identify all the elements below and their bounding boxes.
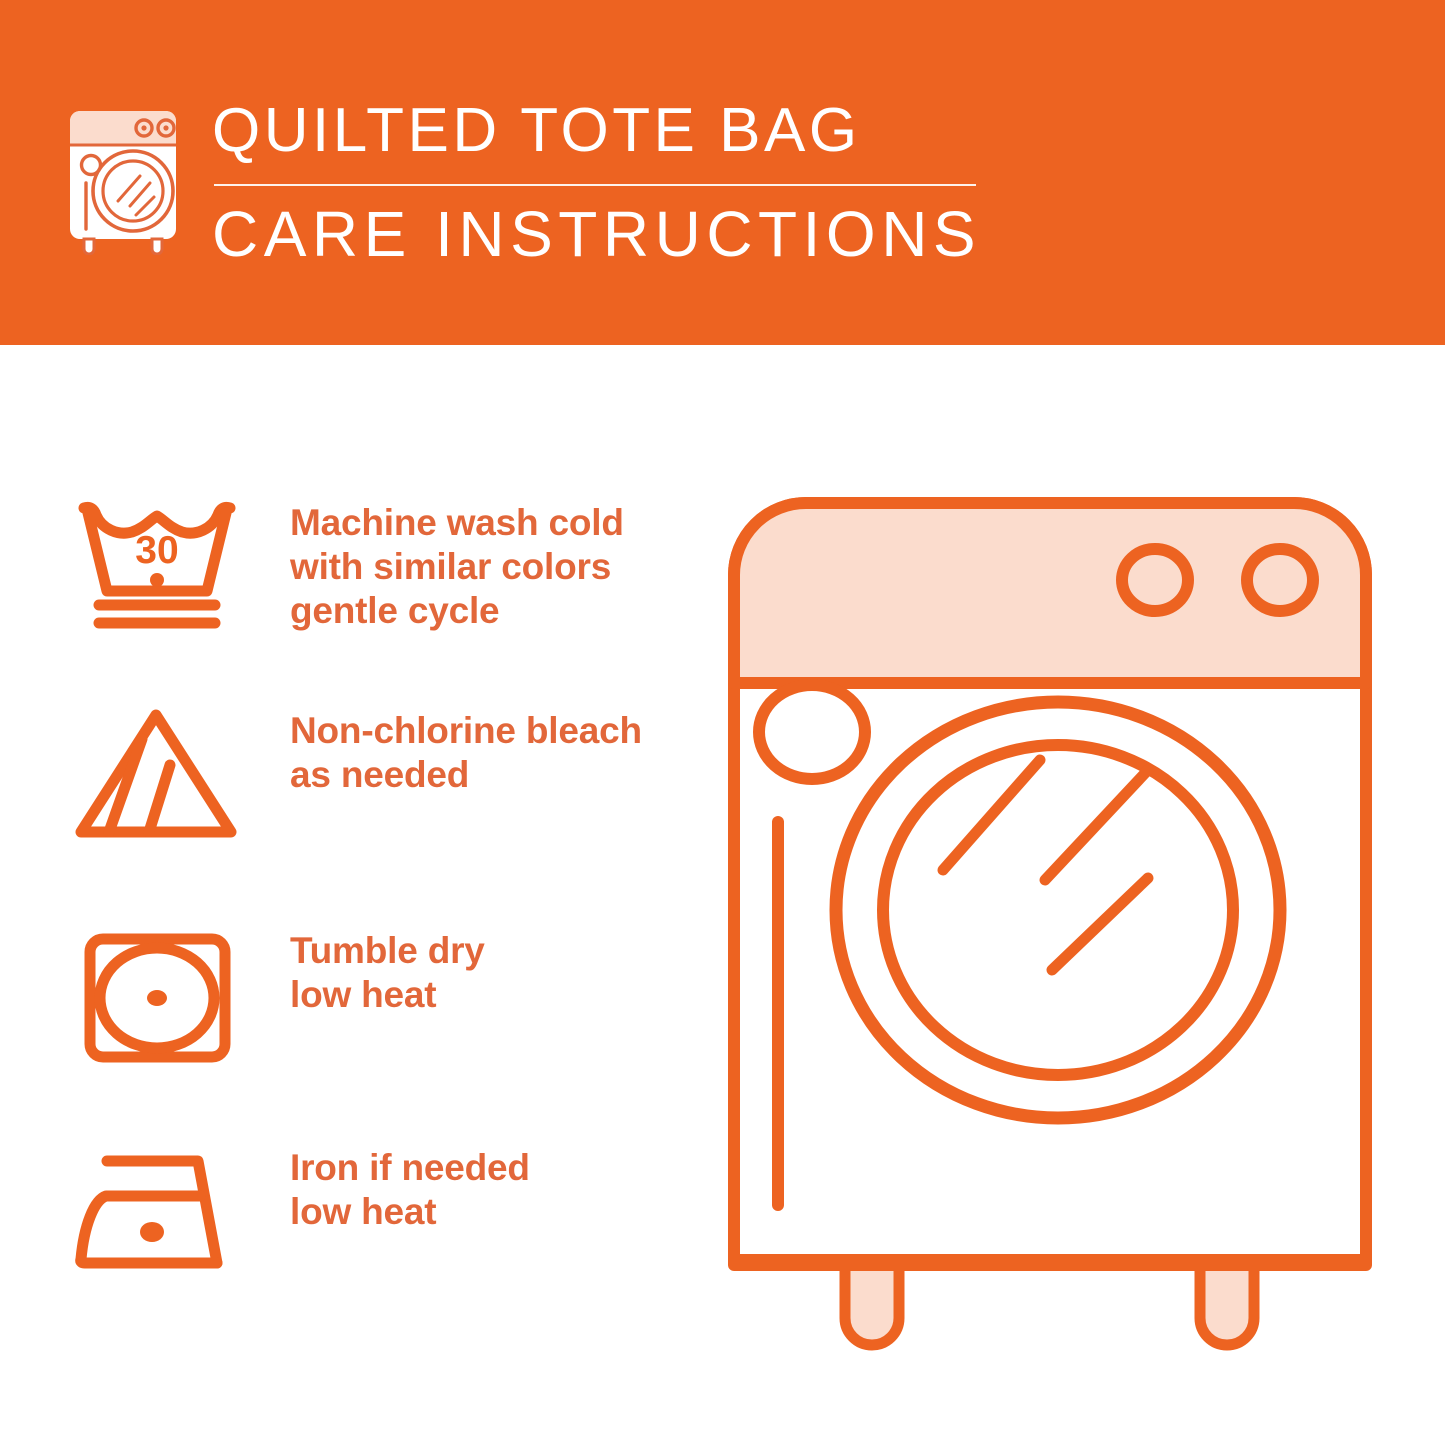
page-title: QUILTED TOTE BAG [212, 96, 1002, 166]
care-label-line: Iron if needed [290, 1146, 690, 1190]
machine-wash-30-icon: 30 [70, 495, 245, 645]
care-label-line: gentle cycle [290, 589, 690, 633]
tumble-dry-low-icon [70, 923, 245, 1073]
wash-temperature-label: 30 [135, 529, 178, 572]
non-chlorine-bleach-triangle-icon [70, 703, 245, 853]
iron-low-heat-icon [70, 1140, 245, 1290]
care-label-line: Non-chlorine bleach [290, 709, 690, 753]
care-label-line: low heat [290, 973, 690, 1017]
care-item-label: Non-chlorine bleach as needed [290, 709, 690, 797]
leg-left [845, 1260, 899, 1345]
washing-machine-illustration [700, 470, 1400, 1370]
care-label-line: as needed [290, 753, 690, 797]
header-banner: QUILTED TOTE BAG CARE INSTRUCTIONS [0, 0, 1445, 345]
care-label-line: Tumble dry [290, 929, 690, 973]
care-item-label: Tumble dry low heat [290, 929, 690, 1017]
title-divider [214, 184, 976, 186]
care-label-line: Machine wash cold [290, 501, 690, 545]
care-label-line: low heat [290, 1190, 690, 1234]
header-title-block: QUILTED TOTE BAG CARE INSTRUCTIONS [212, 96, 1002, 270]
care-label-line: with similar colors [290, 545, 690, 589]
care-item-label: Machine wash cold with similar colors ge… [290, 501, 690, 633]
washing-machine-icon [62, 103, 184, 255]
care-item-label: Iron if needed low heat [290, 1146, 690, 1234]
care-instructions-list: 30 Machine wash cold with similar colors… [0, 345, 700, 1445]
page-subtitle: CARE INSTRUCTIONS [212, 198, 1002, 270]
control-panel [734, 503, 1366, 683]
